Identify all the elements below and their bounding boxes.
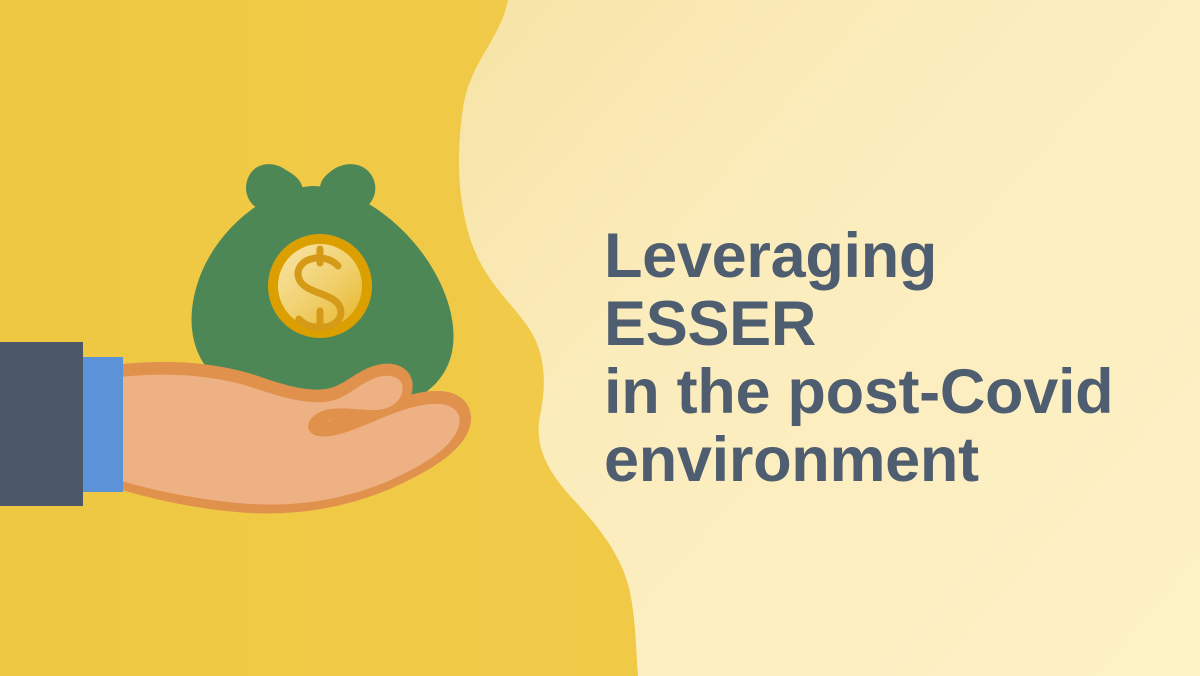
suit-sleeve	[0, 342, 83, 506]
dollar-coin	[268, 234, 372, 338]
shirt-cuff	[82, 357, 123, 492]
slide-canvas: Leveraging ESSER in the post-Covid envir…	[0, 0, 1200, 676]
page-title: Leveraging ESSER in the post-Covid envir…	[604, 222, 1164, 494]
